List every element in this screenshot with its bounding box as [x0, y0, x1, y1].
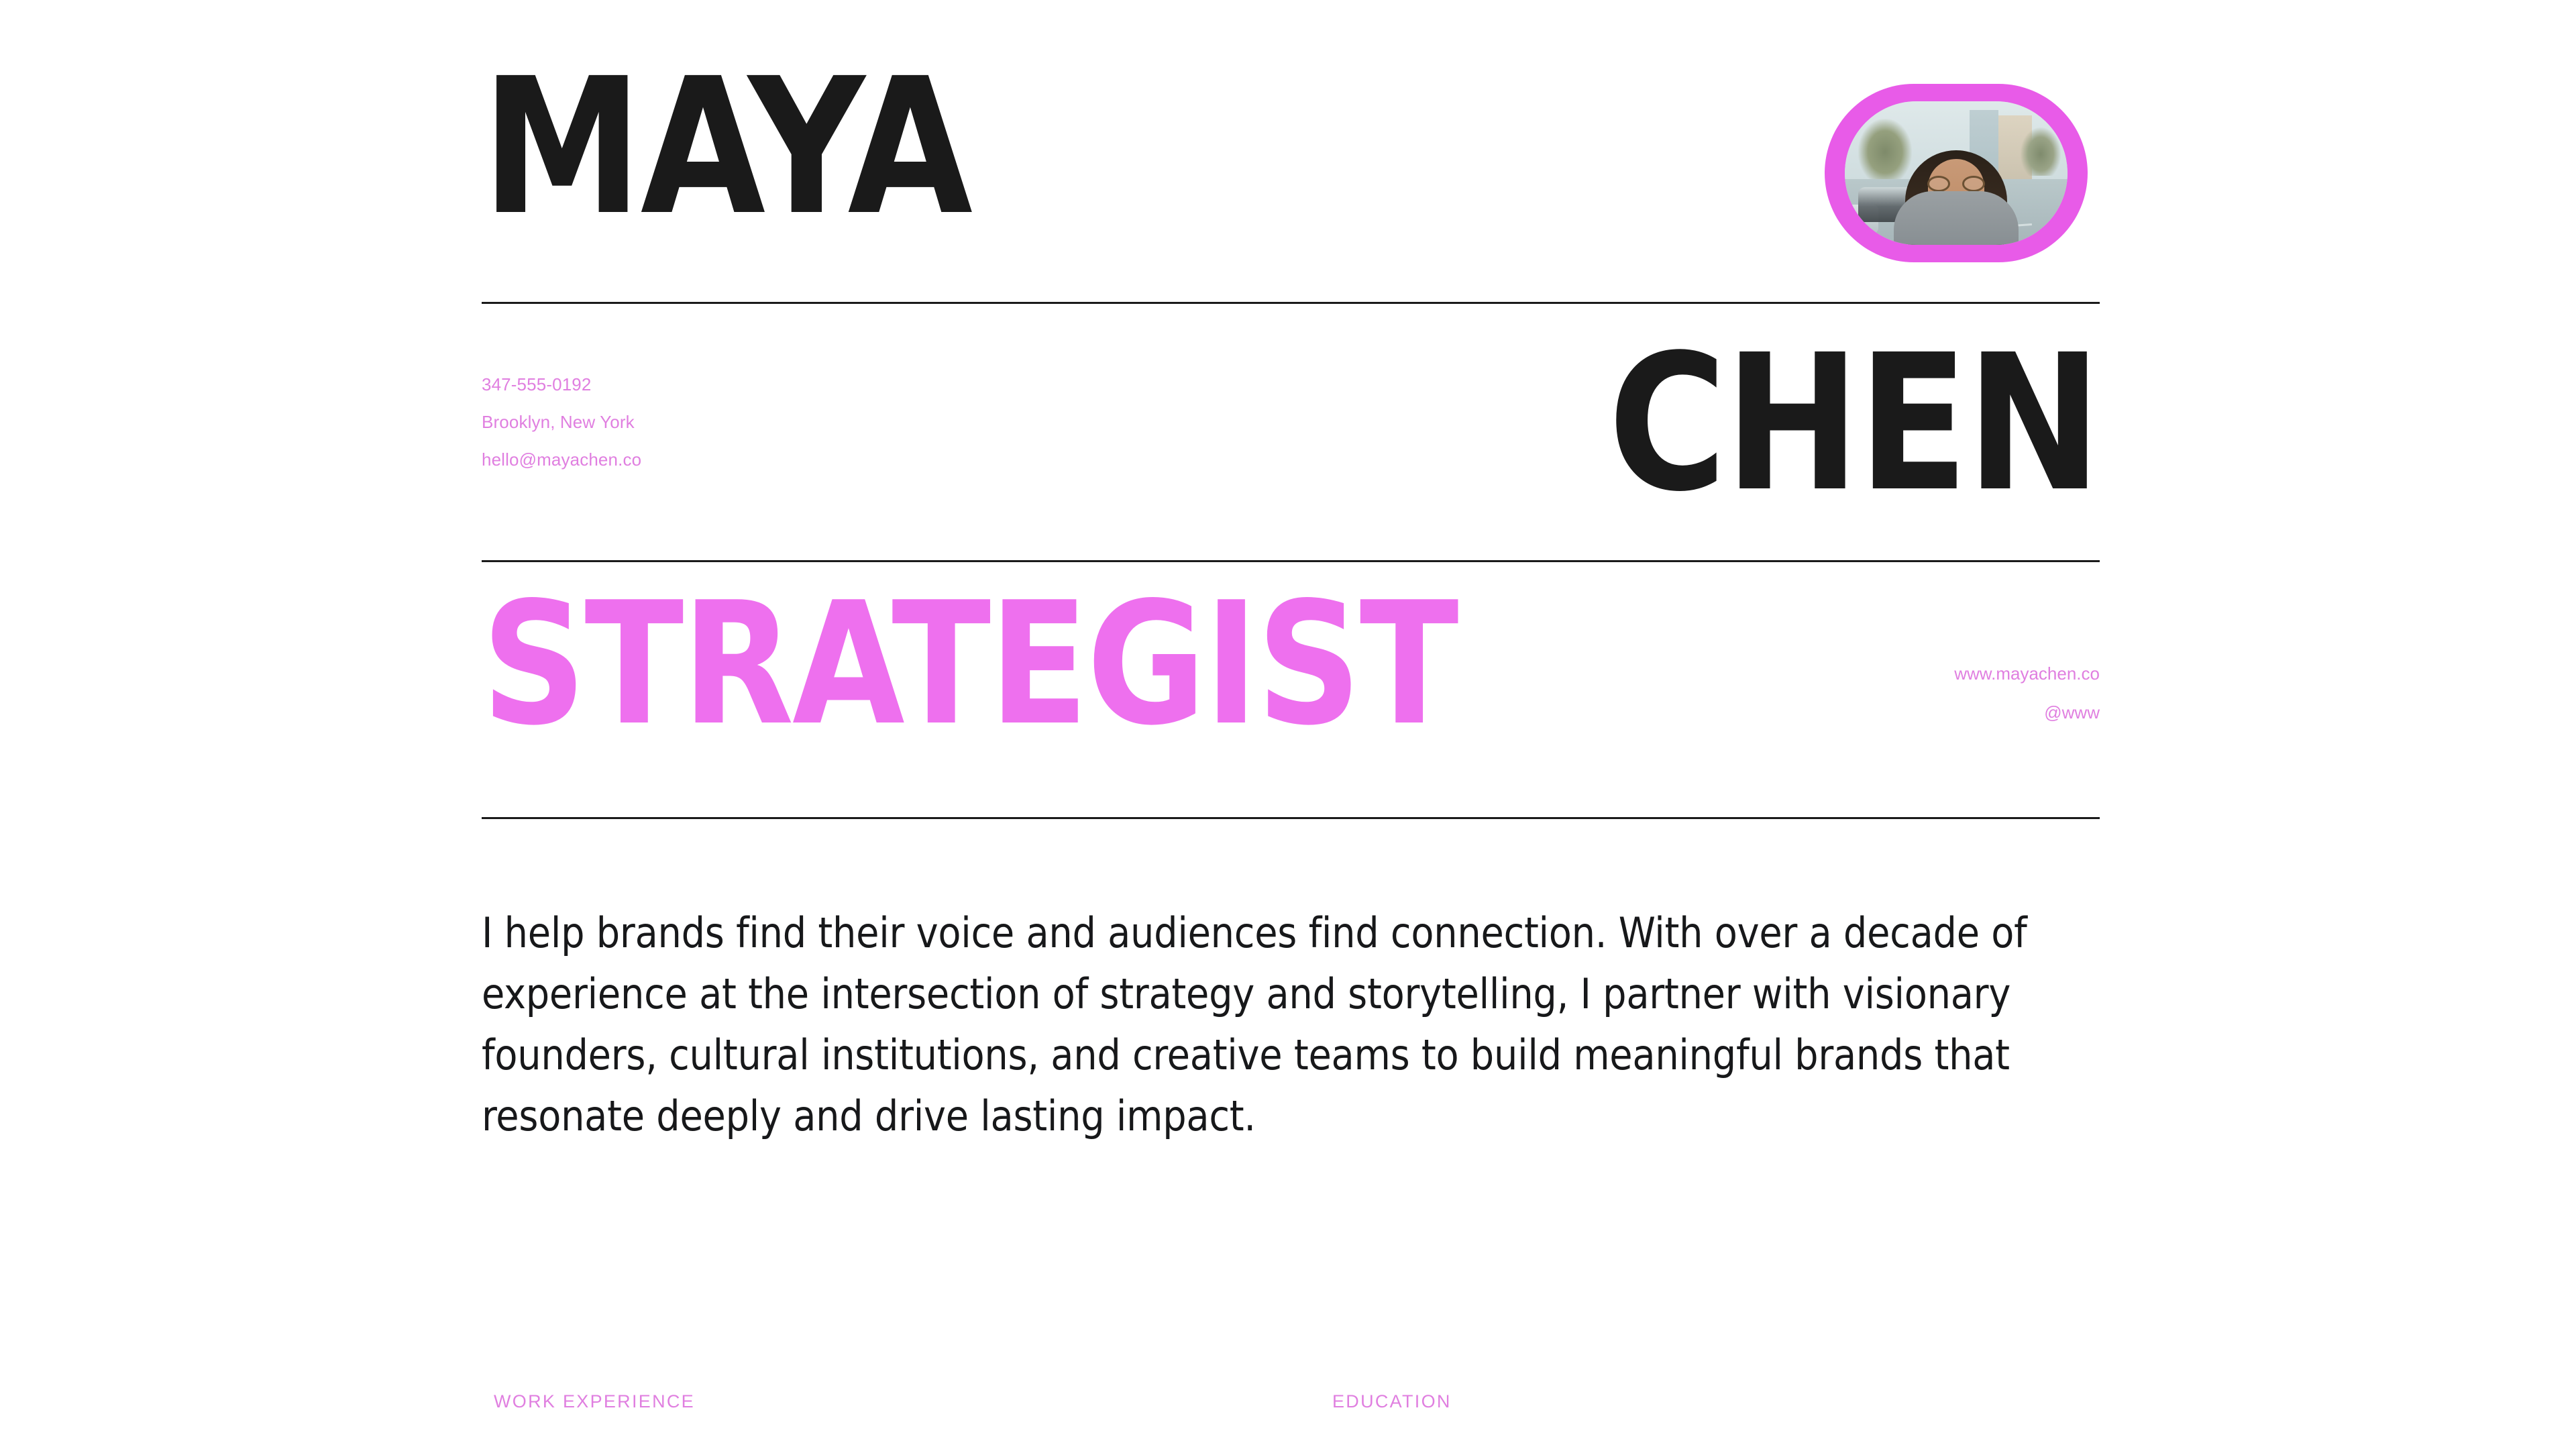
links-block: www.mayachen.co @www	[1954, 654, 2100, 732]
divider-middle	[482, 560, 2100, 562]
avatar	[1825, 84, 2088, 262]
contact-email[interactable]: hello@mayachen.co	[482, 441, 641, 478]
content-column: MAYA 347-555-019	[482, 0, 2100, 1449]
contact-block: 347-555-0192 Brooklyn, New York hello@ma…	[482, 366, 641, 478]
bio-paragraph: I help brands find their voice and audie…	[482, 902, 2078, 1146]
divider-bottom	[482, 817, 2100, 819]
resume-page: MAYA 347-555-019	[0, 0, 2576, 1449]
contact-phone[interactable]: 347-555-0192	[482, 366, 641, 403]
section-headings: WORK EXPERIENCE EDUCATION	[482, 1391, 2100, 1449]
page-title-last-name: CHEN	[1608, 349, 2100, 499]
divider-top	[482, 302, 2100, 304]
glasses-icon	[1927, 176, 1985, 192]
link-website[interactable]: www.mayachen.co	[1954, 654, 2100, 693]
contact-location: Brooklyn, New York	[482, 403, 641, 441]
page-title-first-name: MAYA	[482, 72, 971, 223]
section-heading-work-experience: WORK EXPERIENCE	[494, 1391, 695, 1412]
section-heading-education: EDUCATION	[1332, 1391, 1452, 1412]
avatar-photo	[1845, 101, 2068, 245]
link-handle[interactable]: @www	[1954, 693, 2100, 732]
role-title: STRATEGIST	[482, 597, 1457, 733]
photo-sweater	[1894, 191, 2019, 245]
photo-tree-left	[1858, 119, 1912, 179]
photo-tree-right	[2021, 127, 2061, 176]
